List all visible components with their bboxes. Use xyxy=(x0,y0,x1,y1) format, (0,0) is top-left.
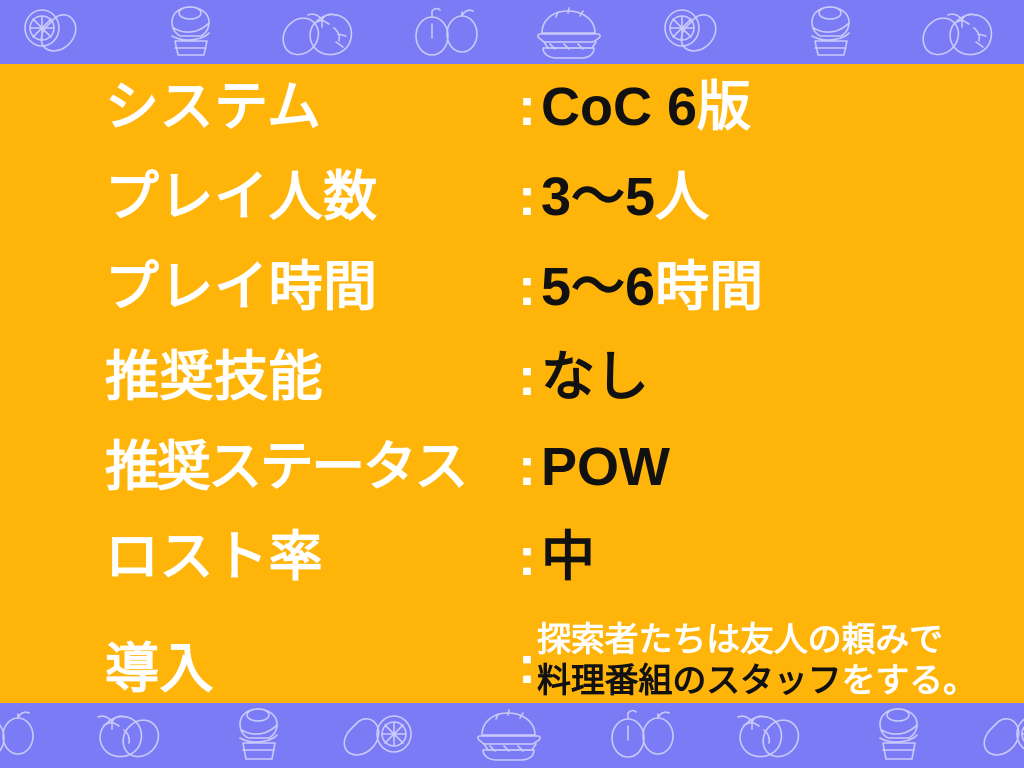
lemon-icon xyxy=(324,704,452,768)
lemon-icon xyxy=(0,0,128,64)
plum-icon xyxy=(0,704,68,768)
top-banner-icon-strip xyxy=(0,0,1024,64)
bottom-decorative-banner xyxy=(0,703,1024,768)
bottom-banner-icon-strip xyxy=(0,703,1024,768)
row-value-recommended-status: POW xyxy=(541,440,670,494)
row-value-lost-rate: 中 xyxy=(541,530,595,584)
lemon-icon xyxy=(964,704,1024,768)
persimmon-icon xyxy=(68,704,196,768)
ice-cream-icon xyxy=(128,0,256,64)
row-separator: : xyxy=(518,350,536,404)
ice-cream-icon xyxy=(836,704,964,768)
row-separator: : xyxy=(518,440,536,494)
row-label-recommended-skill: 推奨技能 xyxy=(105,350,323,404)
ice-cream-icon xyxy=(768,0,896,64)
row-separator: : xyxy=(518,170,536,224)
row-separator: : xyxy=(518,638,536,692)
persimmon-icon xyxy=(256,0,384,64)
row-value-system: CoC 6版 xyxy=(541,80,751,134)
lemon-icon xyxy=(640,0,768,64)
plum-icon xyxy=(384,0,512,64)
row-value-introduction: 探索者たちは友人の頼みで 料理番組のスタッフをする。 xyxy=(537,620,977,703)
row-value-recommended-skill: なし xyxy=(541,350,649,404)
row-separator: : xyxy=(518,260,536,314)
persimmon-icon xyxy=(896,0,1024,64)
row-label-player-count: プレイ人数 xyxy=(105,170,378,224)
row-label-introduction: 導入 xyxy=(105,642,214,696)
introduction-line-1: 探索者たちは友人の頼みで xyxy=(537,621,943,659)
ice-cream-icon xyxy=(196,704,324,768)
row-value-player-count: 3〜5人 xyxy=(541,170,709,224)
hamburger-icon xyxy=(512,0,640,64)
plum-icon xyxy=(580,704,708,768)
top-decorative-banner xyxy=(0,0,1024,64)
introduction-line-2: 料理番組のスタッフをする。 xyxy=(537,662,977,700)
row-separator: : xyxy=(518,80,536,134)
row-label-system: システム xyxy=(105,80,322,134)
info-table: システム : CoC 6版 プレイ人数 : 3〜5人 プレイ時間 : 5〜6時間… xyxy=(0,64,1024,703)
row-separator: : xyxy=(518,530,536,584)
row-value-play-time: 5〜6時間 xyxy=(541,260,763,314)
row-label-play-time: プレイ時間 xyxy=(105,260,378,314)
hamburger-icon xyxy=(452,704,580,768)
scenario-info-slide: システム : CoC 6版 プレイ人数 : 3〜5人 プレイ時間 : 5〜6時間… xyxy=(0,0,1024,768)
row-label-lost-rate: ロスト率 xyxy=(105,530,323,584)
row-label-recommended-status: 推奨ステータス xyxy=(105,440,466,494)
persimmon-icon xyxy=(708,704,836,768)
